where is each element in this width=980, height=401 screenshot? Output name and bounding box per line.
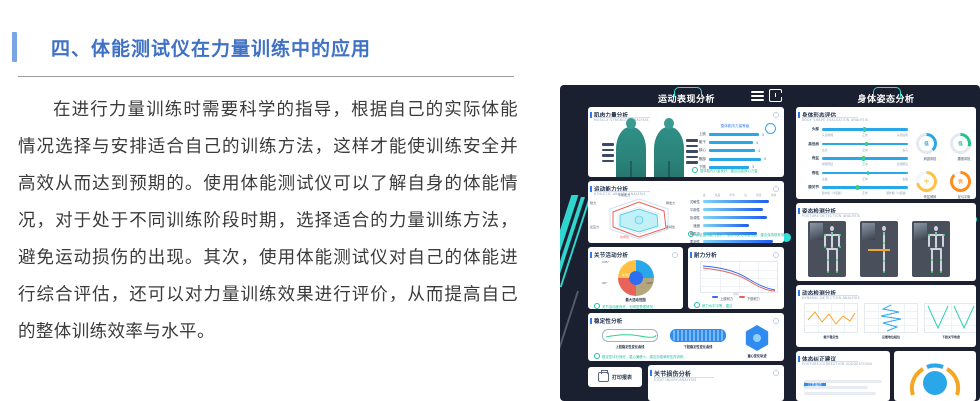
slider-row[interactable]: 骨盆 前倾明显正常后倾明显 (804, 156, 908, 166)
left-panel-title-wrap: 运动表现分析 (639, 90, 734, 106)
card-overall-score[interactable] (894, 351, 976, 401)
slider-right: 膝外翻（O型腿） (886, 191, 908, 195)
placeholder-line (804, 386, 868, 389)
stability-item-center: 重心变化轨迹 (738, 325, 776, 358)
table-row: 上肢5 (694, 132, 776, 137)
bar-label: 协调性 (684, 215, 700, 220)
hamburger-menu-icon[interactable] (751, 91, 764, 101)
left-device-panel: 运动表现分析 肌肉力量分析 MUSCLE STRENGTH ANALYSIS (584, 85, 788, 401)
skeleton-overlay (821, 226, 843, 274)
pose-side[interactable] (860, 221, 898, 277)
heading-divider (18, 76, 514, 77)
radar-label: 平衡能力 (618, 193, 630, 197)
card-stability[interactable]: 稳定性分析 上肢稳定性变化曲线 下肢稳定性变化曲线 重心变化轨 (588, 313, 784, 361)
card-subtitle: POSTURE CORRECTION SUGGESTIONS (802, 362, 872, 366)
gauge-value: 中 (919, 174, 934, 189)
slider-center: 正常 (862, 162, 868, 166)
table-row: 平衡性 (684, 207, 776, 212)
slider-right: 右高 (902, 148, 908, 152)
slider-label: 膝关节 (804, 185, 819, 190)
score-badge (765, 123, 776, 134)
print-button-label: 打印报表 (612, 374, 632, 381)
lower-curve-widget (670, 329, 726, 342)
scale-tick: 中等 (730, 193, 735, 197)
strength-chart-label: 整体肌肉力量等级 (694, 124, 776, 129)
card-menu-dot[interactable] (773, 318, 779, 324)
strength-chart: 整体肌肉力量等级 上肢5 躯干4 核心4 髋部5 下肢3 (694, 124, 776, 173)
accent-stripe-grey (560, 291, 579, 371)
score-gauge (905, 359, 965, 399)
stability-item-upper: 上肢稳定性变化曲线 (602, 329, 658, 349)
segment-label: 145° (602, 260, 609, 264)
bar-label: 灵敏性 (684, 199, 700, 204)
muscle-figures (602, 127, 698, 177)
radar-label: 柔韧性 (666, 225, 675, 229)
dashboard-frame: 运动表现分析 肌肉力量分析 MUSCLE STRENGTH ANALYSIS (560, 85, 980, 401)
slider-left: 前倾明显 (822, 162, 833, 166)
gauge-shoulder: 低 肩颈风险 (916, 133, 944, 161)
card-title: 耐力分析 (694, 251, 717, 259)
section-heading: 四、体能测试仪在力量训练中的应用 (0, 30, 980, 64)
slider-right: 后倾明显 (897, 162, 908, 166)
card-note: 耐力水平中等，建议 (694, 302, 733, 308)
slider-row[interactable]: 高低肩 左高正常右高 (804, 142, 908, 152)
gauge-label: 骨盆倾斜 (916, 194, 944, 199)
printer-icon (598, 372, 609, 382)
bar-label: 平衡性 (684, 207, 700, 212)
slider-row[interactable]: 头部 头部前倾正常头部后倾 (804, 127, 908, 137)
slider-center: 正常 (862, 191, 868, 195)
right-panel-title-wrap: 身体姿态分析 (836, 90, 936, 106)
slider-right: 右偏 (902, 177, 908, 181)
radar-label: 爆发力 (666, 201, 675, 205)
slider-left: 左偏 (822, 177, 828, 181)
segment-label: 90° (602, 281, 607, 285)
slider-row[interactable]: 脊柱 左偏正常右偏 (804, 171, 908, 181)
bar-label: 躯干 (694, 140, 706, 145)
line-chart (700, 261, 778, 293)
body-back-figure (654, 127, 684, 177)
gauge-arch: 优 足弓平衡 (950, 171, 976, 199)
body-front-figure (616, 127, 646, 177)
print-report-button[interactable]: 打印报表 (588, 367, 642, 387)
left-panel-toolbar (751, 89, 782, 102)
gauge-label: 足弓平衡 (950, 194, 976, 199)
article-paragraph: 在进行力量训练时需要科学的指导，根据自己的实际体能情况选择与安排适合自己的训练方… (18, 92, 518, 351)
table-row: 髋部5 (694, 157, 776, 162)
chart-caption: 躯干稳定性 (804, 335, 858, 339)
card-note: 关节活动度良好，无明显受限情况 (594, 303, 653, 309)
page-title: 四、体能测试仪在力量训练中的应用 (51, 34, 371, 61)
card-note: 稳定性评分良好，重心偏移小，建议加强单侧支撑训练 (594, 353, 683, 359)
scale-tick: 卓越 (771, 193, 776, 197)
card-note: 整体肌肉力量良好，建议加强核心力量 (692, 167, 758, 173)
scale-tick: 较差 (715, 193, 720, 197)
legend-item: 下肢耐力 (739, 296, 760, 301)
card-joint-range[interactable]: 关节活动分析 关节度 120° 145° 100° 90° 最大活动范围 (588, 247, 683, 309)
chart-foot-phase: 足着地位相位 (864, 303, 918, 339)
bar-value: 5 (762, 133, 764, 137)
gauge-ring: 优 (950, 171, 971, 192)
chart-legend: 上肢耐力 下肢耐力 (688, 296, 784, 301)
legend-item: 上肢耐力 (712, 296, 733, 301)
dynamic-charts: 躯干稳定性 足着地位相位 (804, 303, 976, 339)
skeleton-overlay (925, 226, 947, 274)
title-notch (674, 87, 702, 97)
card-menu-dot[interactable] (773, 112, 779, 118)
upper-curve-widget (602, 329, 658, 342)
gauge-value: 低 (953, 136, 968, 151)
item-label: 下肢稳定性变化曲线 (670, 344, 726, 349)
table-row: 核心4 (694, 148, 776, 153)
bar-label: 核心 (694, 148, 706, 153)
gauge-value: 优 (953, 174, 968, 189)
chart-trunk-stability: 躯干稳定性 (804, 303, 858, 339)
pose-views (808, 221, 950, 277)
bar-value: 5 (764, 157, 766, 161)
card-note: 综合运动能力良好，指标均衡无明显短板，建议保持现有训练 (688, 231, 784, 237)
slider-label: 高低肩 (804, 142, 819, 147)
chart-caption: 足着地位相位 (864, 335, 918, 339)
card-title: 关节活动分析 (594, 251, 628, 259)
slider-row[interactable]: 膝关节 膝内扣（X型腿）正常膝外翻（O型腿） (804, 185, 908, 195)
slider-label: 骨盆 (804, 156, 819, 161)
title-notch (873, 87, 901, 97)
segment-label: 100° (646, 281, 653, 285)
radar-label: 协调性 (620, 235, 629, 239)
slider-label: 头部 (804, 127, 819, 132)
slider-left: 膝内扣（X型腿） (822, 191, 844, 195)
donut-center-label: 关节度 (619, 273, 633, 277)
card-subtitle: BODY SHAPE EVALUATION ANALYSIS (802, 118, 868, 122)
card-subtitle: JOINT INJURY ANALYSIS (654, 378, 697, 382)
gauge-lumbar: 低 腰椎风险 (950, 133, 976, 161)
legend-label: 下肢耐力 (747, 297, 760, 301)
strength-bars: 上肢5 躯干4 核心4 髋部5 下肢3 (694, 132, 776, 170)
gauge-label: 肩颈风险 (916, 156, 944, 161)
donut-chart (612, 259, 660, 297)
item-label: 上肢稳定性变化曲线 (602, 344, 658, 349)
card-athletic-ability[interactable]: 运动能力分析 ATHLETIC ABILITY ANALYSIS 平衡能力 爆发… (588, 181, 784, 243)
table-row: 速度 (684, 223, 776, 228)
segment-label: 120° (616, 260, 623, 264)
slider-left: 左高 (822, 148, 828, 152)
center-of-gravity-icon (744, 325, 770, 351)
legend-label: 上肢耐力 (720, 297, 733, 301)
pose-back[interactable] (912, 221, 950, 277)
page-root: 四、体能测试仪在力量训练中的应用 在进行力量训练时需要科学的指导，根据自己的实际… (0, 0, 980, 401)
slider-left: 头部前倾 (822, 133, 833, 137)
table-row: 躯干4 (694, 140, 776, 145)
slider-label: 脊柱 (804, 171, 819, 176)
scale-tick: 良 (744, 193, 747, 197)
card-joint-injury[interactable]: 关节损伤分析 JOINT INJURY ANALYSIS (648, 365, 784, 401)
stability-item-lower: 下肢稳定性变化曲线 (670, 329, 726, 349)
chart-caption: 下肢关节角度 (924, 335, 976, 339)
gauge-value: 低 (919, 136, 934, 151)
slider-center: 正常 (862, 148, 868, 152)
bar-value: 4 (756, 141, 758, 145)
exit-icon[interactable] (769, 89, 782, 102)
scale-tick: 优秀 (756, 193, 761, 197)
item-label: 重心变化轨迹 (747, 353, 766, 358)
card-posture-correction[interactable]: 体态纠正建议 POSTURE CORRECTION SUGGESTIONS 注意… (796, 351, 890, 401)
label-ticks-left (602, 143, 614, 162)
card-menu-dot[interactable] (773, 252, 779, 258)
bar-label: 速度 (684, 223, 700, 228)
bar-label: 柔韧性 (684, 239, 700, 243)
right-device-panel: 身体姿态分析 身体形态评估 BODY SHAPE EVALUATION ANAL… (792, 85, 980, 401)
gauge-ring: 中 (916, 171, 937, 192)
bar-value: 4 (758, 149, 760, 153)
slider-right: 头部后倾 (897, 133, 908, 137)
bar-label: 上肢 (694, 132, 706, 137)
radar-label: 反应力 (590, 225, 599, 229)
slider-center: 正常 (862, 177, 868, 181)
gauge-label: 腰椎风险 (950, 156, 976, 161)
card-menu-dot[interactable] (672, 252, 678, 258)
card-subtitle: DYNAMIC DETECTION ANALYSIS (802, 296, 860, 300)
card-body-shape[interactable]: 身体形态评估 BODY SHAPE EVALUATION ANALYSIS 头部… (796, 107, 976, 199)
card-subtitle: POSTURE DETECTION ANALYSIS (802, 214, 860, 218)
table-row: 协调性 (684, 215, 776, 220)
radar-chart (602, 196, 676, 240)
dashboard-screenshot: 运动表现分析 肌肉力量分析 MUSCLE STRENGTH ANALYSIS (540, 85, 980, 401)
pose-front[interactable] (808, 221, 846, 277)
alignment-marker (868, 249, 890, 251)
slider-center: 正常 (862, 133, 868, 137)
card-title: 稳定性分析 (594, 317, 623, 325)
card-posture-detection[interactable]: 姿态检测分析 POSTURE DETECTION ANALYSIS (796, 203, 976, 281)
radar-label: 耐力 (590, 201, 596, 205)
gauge-ring: 低 (950, 133, 971, 154)
table-row: 灵敏性 (684, 199, 776, 204)
table-row: 柔韧性 (684, 239, 776, 243)
card-subtitle: MUSCLE STRENGTH ANALYSIS (594, 118, 649, 122)
chart-joint-angle: 下肢关节角度 (924, 303, 976, 339)
heading-accent-bar (12, 32, 17, 62)
gauge-ring: 低 (916, 133, 937, 154)
placeholder-line (804, 392, 876, 395)
risk-gauges: 低 肩颈风险 低 腰椎风险 中 (916, 133, 976, 199)
card-muscle-strength[interactable]: 肌肉力量分析 MUSCLE STRENGTH ANALYSIS 整体肌肉力量等级… (588, 107, 784, 177)
posture-sliders: 头部 头部前倾正常头部后倾 高低肩 左高正常右高 骨盆 前倾明显正常后倾明显 (804, 127, 908, 199)
card-menu-dot[interactable] (773, 186, 779, 192)
card-endurance[interactable]: 耐力分析 时间 上肢耐力 下肢耐力 耐 (688, 247, 784, 309)
donut-caption: 最大活动范围 (588, 297, 683, 302)
gauge-pelvis: 中 骨盆倾斜 (916, 171, 944, 199)
bar-label: 髋部 (694, 157, 706, 162)
card-menu-dot[interactable] (773, 370, 779, 376)
card-dynamic-detection[interactable]: 动态检测分析 DYNAMIC DETECTION ANALYSIS 躯干稳定性 (796, 285, 976, 347)
placeholder-line (804, 380, 882, 383)
scale-tick: 差 (703, 193, 706, 197)
